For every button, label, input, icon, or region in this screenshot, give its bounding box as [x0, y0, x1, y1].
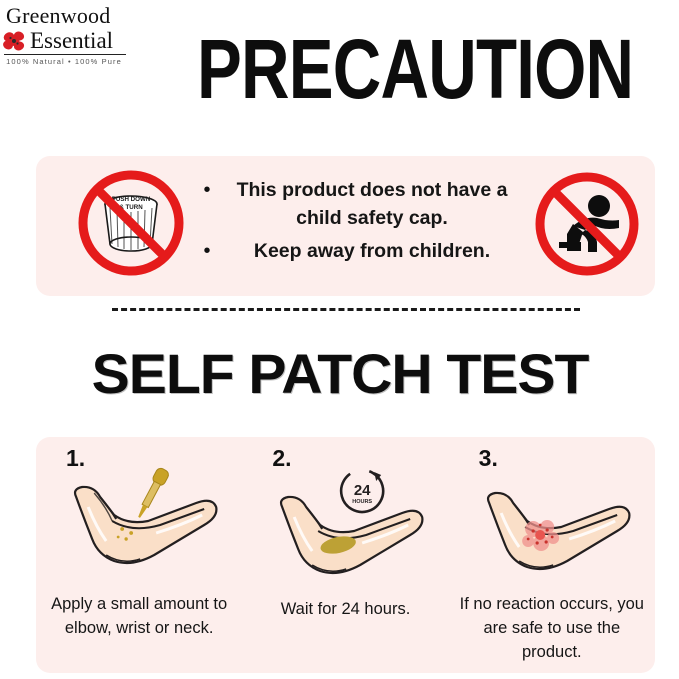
- step-caption: Wait for 24 hours.: [248, 597, 442, 621]
- precaution-bullet-text: Keep away from children.: [218, 237, 526, 265]
- elbow-with-dropper-icon: [36, 463, 242, 583]
- red-flower-icon: [2, 29, 28, 53]
- precaution-bullet-text: This product does not have a child safet…: [218, 176, 526, 232]
- brand-divider: [4, 54, 126, 55]
- no-child-safety-cap-icon: PUSH DOWN & TURN: [76, 168, 186, 278]
- brand-name-line2: Essential: [30, 28, 113, 53]
- precaution-bullet-item: • Keep away from children.: [196, 237, 526, 266]
- patch-test-steps-band: 1.: [36, 437, 655, 673]
- elbow-with-24-hour-timer-icon: 24 HOURS: [242, 463, 448, 583]
- patch-test-step-3: 3.: [449, 437, 655, 673]
- section-divider: [112, 308, 580, 311]
- patch-test-step-1: 1.: [36, 437, 242, 673]
- timer-badge-value: 24: [354, 482, 371, 499]
- elbow-with-rash-icon: [449, 463, 655, 583]
- bullet-marker-icon: •: [196, 176, 218, 205]
- page-title-self-patch-test: SELF PATCH TEST: [34, 345, 646, 403]
- step-caption: If no reaction occurs, you are safe to u…: [455, 592, 649, 664]
- brand-logo: Greenwood Essential 100% Natural • 100% …: [0, 4, 128, 66]
- bullet-marker-icon: •: [196, 237, 218, 266]
- timer-badge-unit: HOURS: [353, 499, 373, 505]
- precaution-bullet-item: • This product does not have a child saf…: [196, 176, 526, 232]
- brand-tagline: 100% Natural • 100% Pure: [0, 57, 128, 66]
- precaution-bullet-list: • This product does not have a child saf…: [196, 176, 526, 266]
- brand-name-line1: Greenwood: [0, 4, 128, 28]
- step-caption: Apply a small amount to elbow, wrist or …: [42, 592, 236, 640]
- page-title-precaution: PRECAUTION: [197, 27, 573, 111]
- no-children-icon: [533, 170, 641, 278]
- patch-test-step-2: 2. 24 HOURS Wait for 24 hours.: [242, 437, 448, 673]
- cap-label-line1: PUSH DOWN: [112, 196, 151, 203]
